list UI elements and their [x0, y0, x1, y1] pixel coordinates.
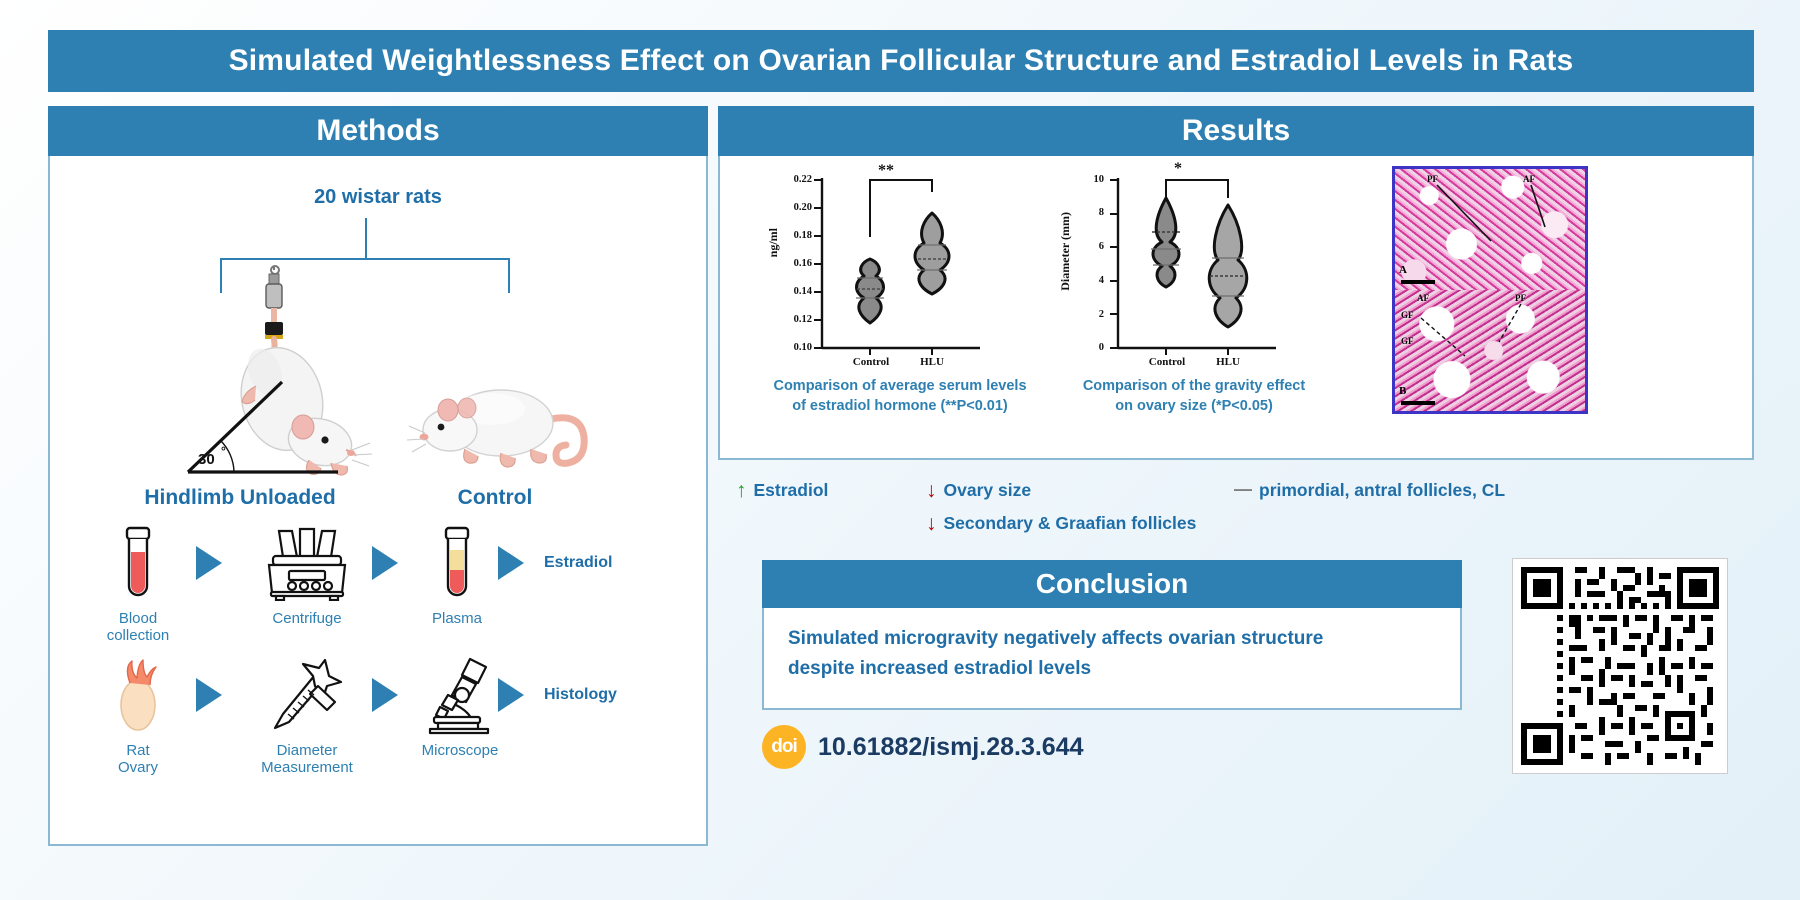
- doi-row[interactable]: doi 10.61882/ismj.28.3.644: [762, 725, 1084, 769]
- arrow-right-icon: [498, 678, 524, 712]
- poster-title-bar: Simulated Weightlessness Effect on Ovari…: [48, 30, 1754, 92]
- results-heading: Results: [718, 106, 1754, 156]
- chart2-violin-hlu: [1209, 205, 1247, 327]
- workflow-step-centrifuge: Centrifuge: [232, 524, 382, 627]
- connector-vertical: [365, 218, 367, 258]
- chart2-ytick-4: 4: [1072, 275, 1104, 286]
- histology-panel-b: AF PF GF GF B: [1395, 290, 1585, 411]
- workflow-step-rat-ovary: Rat Ovary: [78, 656, 198, 777]
- workflow-step-plasma: Plasma: [402, 524, 512, 627]
- chart1-ytick-0.18: 0.18: [774, 230, 812, 241]
- chart-ovary-size-violin: Diameter (mm) 10 8 6 4 2 0 *: [1044, 166, 1344, 416]
- histology-panel-a: PF AF A: [1395, 169, 1585, 290]
- methods-body: 20 wistar rats: [48, 156, 708, 846]
- arrow-right-icon: [196, 678, 222, 712]
- chart1-ytick-0.16: 0.16: [774, 258, 812, 269]
- chart2-ytick-0: 0: [1072, 342, 1104, 353]
- chart2-ytick-8: 8: [1072, 207, 1104, 218]
- workflow-outcome-histology: Histology: [544, 686, 694, 704]
- chart1-ytick-0.10: 0.10: [774, 342, 812, 353]
- chart2-y-axis-title: Diameter (mm): [1058, 212, 1073, 291]
- finding-label-estradiol: Estradiol: [754, 480, 829, 502]
- animals-label: 20 wistar rats: [50, 186, 706, 209]
- chart2-ytick-2: 2: [1072, 309, 1104, 320]
- histology-scalebar-b: [1401, 401, 1435, 405]
- conclusion-body: Simulated microgravity negatively affect…: [762, 608, 1462, 710]
- workflow-arrow-3: [498, 546, 548, 580]
- workflow-label-centrifuge: Centrifuge: [232, 610, 382, 627]
- arrow-down-icon: ↓: [926, 513, 937, 534]
- group-label-hindlimb-unloaded: Hindlimb Unloaded: [90, 486, 390, 510]
- arrow-right-icon: [196, 546, 222, 580]
- chart1-violin-hlu: [915, 213, 949, 294]
- connector-horizontal: [220, 258, 510, 260]
- workflow-outcome-estradiol: Estradiol: [544, 554, 694, 572]
- workflow-label-rat-ovary: Rat Ovary: [78, 742, 198, 777]
- results-panel: Results ng/ml 0.22 0.20 0.18 0.16 0.14 0…: [718, 106, 1754, 460]
- methods-panel: Methods 20 wistar rats: [48, 106, 708, 846]
- workflow-step-blood-collection: Blood collection: [78, 524, 198, 645]
- blood-tube-icon: [78, 524, 198, 602]
- finding-label-follicles: Secondary & Graafian follicles: [944, 513, 1197, 535]
- workflow-arrow-6: [498, 678, 548, 712]
- conclusion-line-2: despite increased estradiol levels: [788, 654, 1436, 684]
- chart1-ytick-0.14: 0.14: [774, 286, 812, 297]
- results-body: ng/ml 0.22 0.20 0.18 0.16 0.14 0.12 0.10…: [718, 156, 1754, 460]
- finding-estradiol: ↑ Estradiol: [736, 480, 828, 502]
- chart-estradiol-violin: ng/ml 0.22 0.20 0.18 0.16 0.14 0.12 0.10…: [750, 166, 1050, 416]
- chart2-violin-control: [1153, 198, 1179, 287]
- finding-follicles: ↓ Secondary & Graafian follicles: [926, 513, 1196, 535]
- workflow-label-blood-collection: Blood collection: [78, 610, 198, 645]
- workflow-label-plasma: Plasma: [402, 610, 512, 627]
- chart2-ytick-6: 6: [1072, 241, 1104, 252]
- arrow-down-icon: ↓: [926, 480, 937, 501]
- finding-unchanged: — primordial, antral follicles, CL: [1234, 480, 1505, 502]
- angle-degree-symbol: °: [221, 444, 226, 458]
- arrow-right-icon: [498, 546, 524, 580]
- chart1-xtick-control: Control: [836, 356, 906, 368]
- qr-code[interactable]: [1512, 558, 1728, 774]
- workflow-label-diameter-measurement: Diameter Measurement: [232, 742, 382, 777]
- control-rat-illustration: [405, 361, 595, 489]
- finding-label-unchanged: primordial, antral follicles, CL: [1259, 480, 1505, 502]
- graphical-abstract: Simulated Weightlessness Effect on Ovari…: [0, 0, 1800, 900]
- findings-legend: ↑ Estradiol ↓ Ovary size ↓ Secondary & G…: [718, 472, 1754, 552]
- dash-neutral-icon: —: [1234, 480, 1252, 498]
- centrifuge-icon: [232, 524, 382, 602]
- chart1-ytick-0.12: 0.12: [774, 314, 812, 325]
- angle-value-label: 30: [198, 451, 215, 468]
- chart2-ytick-10: 10: [1072, 174, 1104, 185]
- hindlimb-unloaded-rat-illustration: 30 °: [170, 264, 410, 489]
- conclusion-panel: Conclusion Simulated microgravity negati…: [762, 560, 1462, 710]
- histology-panel-id-a: A: [1399, 264, 1407, 276]
- poster-title: Simulated Weightlessness Effect on Ovari…: [229, 44, 1574, 78]
- doi-badge-icon: doi: [762, 725, 806, 769]
- workflow-row-histology: Rat Ovary: [50, 656, 706, 831]
- chart1-xtick-hlu: HLU: [902, 356, 962, 368]
- ovary-histology-micrograph: PF AF A AF PF GF GF: [1392, 166, 1588, 414]
- group-label-control: Control: [380, 486, 610, 510]
- workflow-step-diameter-measurement: Diameter Measurement: [232, 656, 382, 777]
- caliper-icon: [232, 656, 382, 734]
- chart1-caption: Comparison of average serum levels of es…: [750, 377, 1050, 416]
- chart2-xtick-hlu: HLU: [1198, 356, 1258, 368]
- methods-heading: Methods: [48, 106, 708, 156]
- arrow-right-icon: [372, 678, 398, 712]
- chart1-ytick-0.20: 0.20: [774, 202, 812, 213]
- finding-ovary-size: ↓ Ovary size: [926, 480, 1031, 502]
- chart2-xtick-control: Control: [1132, 356, 1202, 368]
- connector-drop-right: [508, 258, 510, 293]
- rat-ovary-icon: [78, 656, 198, 734]
- arrow-right-icon: [372, 546, 398, 580]
- finding-label-ovary-size: Ovary size: [944, 480, 1032, 502]
- histology-scalebar-a: [1401, 280, 1435, 284]
- plasma-tube-icon: [402, 524, 512, 602]
- workflow-label-microscope: Microscope: [398, 742, 522, 759]
- chart1-ytick-0.22: 0.22: [774, 174, 812, 185]
- chart1-violin-control: [857, 259, 884, 323]
- arrow-up-icon: ↑: [736, 480, 747, 501]
- histology-panel-id-b: B: [1399, 385, 1406, 397]
- doi-value[interactable]: 10.61882/ismj.28.3.644: [818, 733, 1084, 762]
- conclusion-heading: Conclusion: [762, 560, 1462, 608]
- conclusion-line-1: Simulated microgravity negatively affect…: [788, 624, 1436, 654]
- chart2-caption: Comparison of the gravity effect on ovar…: [1044, 377, 1344, 416]
